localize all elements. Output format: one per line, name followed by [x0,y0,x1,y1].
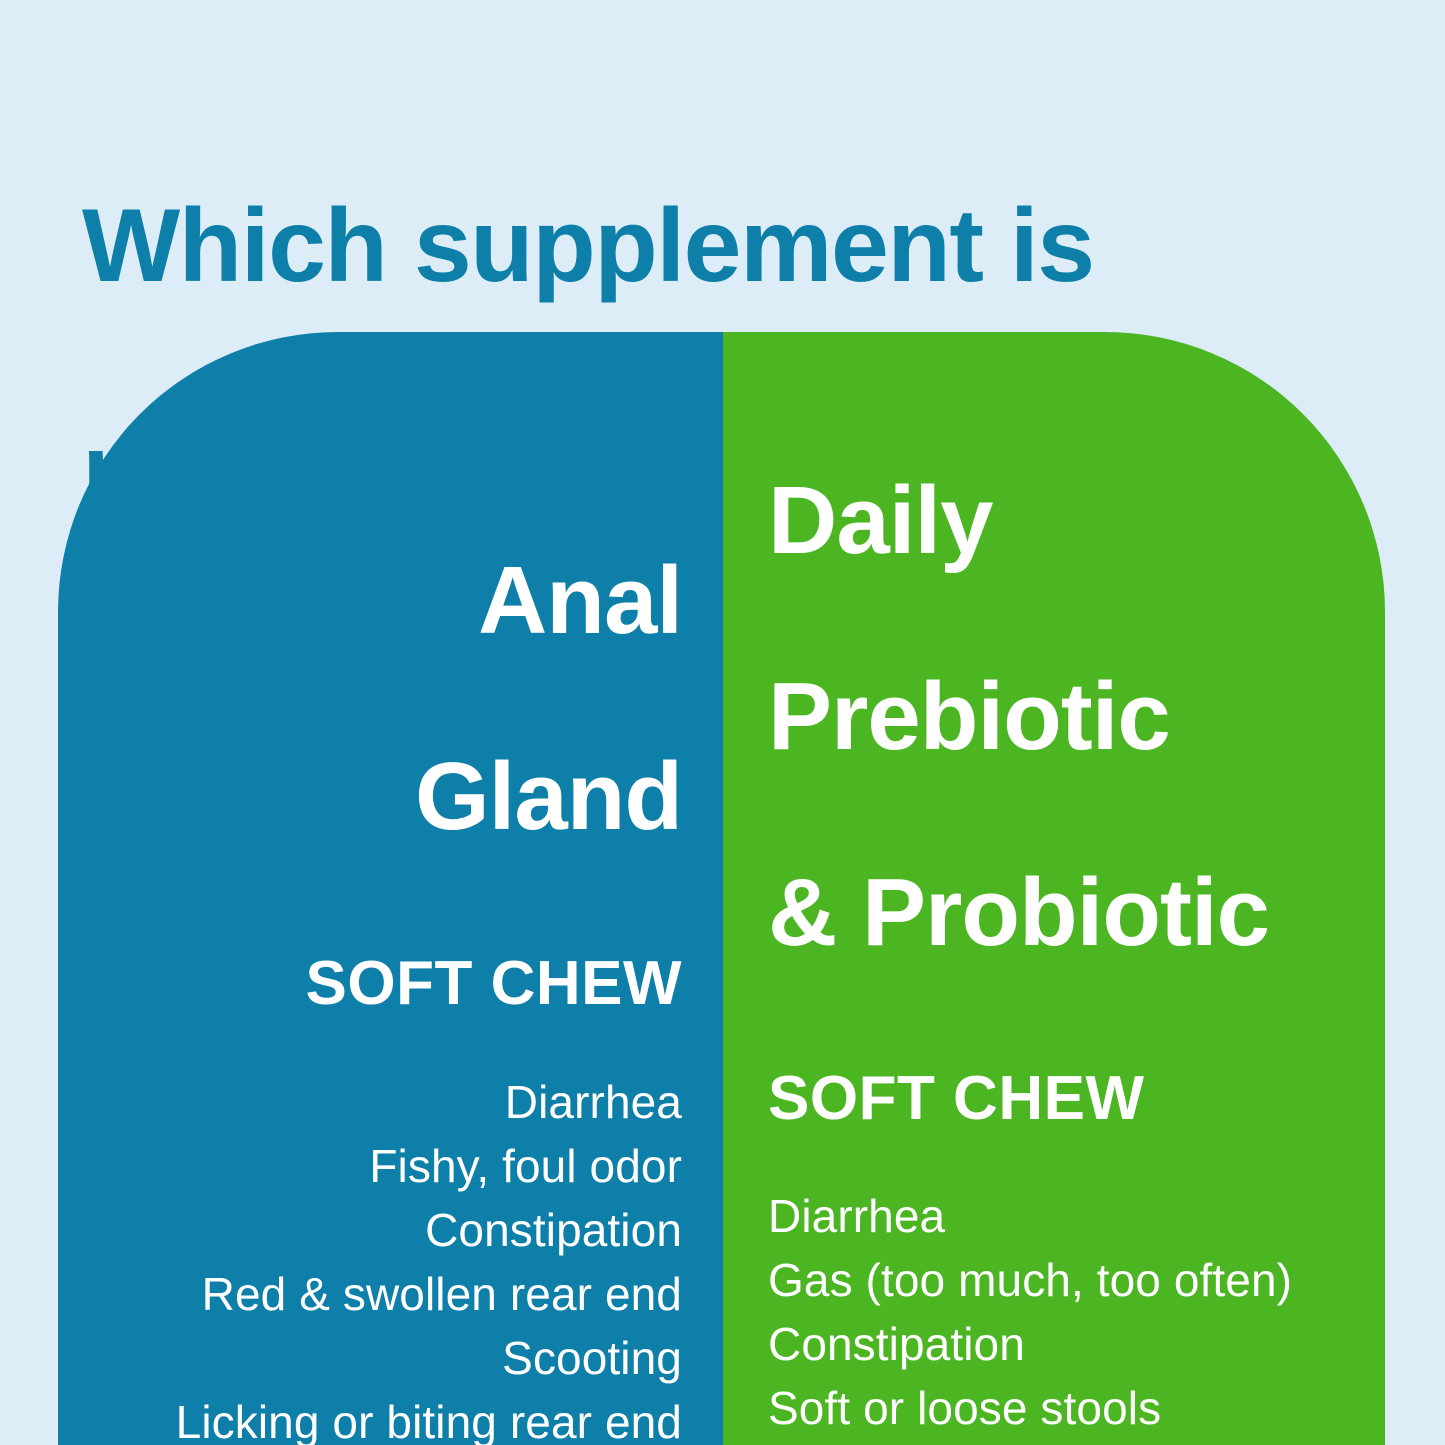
list-item: Diarrhea [58,1070,682,1134]
list-item: Constipation [58,1198,682,1262]
panel-daily-prebiotic-probiotic-subtitle: SOFT CHEW [768,1065,1385,1133]
panel-daily-title-line-1: Daily [768,472,1385,570]
panel-anal-gland-content: Anal Gland SOFT CHEW DiarrheaFishy, foul… [58,332,723,1445]
symptom-list-anal-gland: DiarrheaFishy, foul odorConstipationRed … [58,1070,682,1445]
panel-anal-gland-title-line-1: Anal [58,552,682,650]
list-item: Diarrhea [768,1184,1385,1248]
comparison-panels: Anal Gland SOFT CHEW DiarrheaFishy, foul… [0,332,1445,1445]
list-item: Constipation [768,1312,1385,1376]
panel-daily-prebiotic-probiotic: Daily Prebiotic & Probiotic SOFT CHEW Di… [723,332,1385,1445]
list-item: Scooting [58,1326,682,1390]
list-item: Gurgling tummy [768,1440,1385,1445]
panel-anal-gland-subtitle: SOFT CHEW [58,950,682,1018]
panel-daily-title-line-3: & Probiotic [768,864,1385,962]
panel-anal-gland: Anal Gland SOFT CHEW DiarrheaFishy, foul… [58,332,723,1445]
list-item: Fishy, foul odor [58,1134,682,1198]
headline-line-1: Which supplement is [82,190,1282,302]
symptom-list-daily-prebiotic-probiotic: DiarrheaGas (too much, too often)Constip… [768,1184,1385,1445]
infographic-poster: Which supplement is right for your dog? … [0,0,1445,1445]
list-item: Soft or loose stools [768,1376,1385,1440]
list-item: Gas (too much, too often) [768,1248,1385,1312]
panel-anal-gland-title-line-2: Gland [58,748,682,846]
panel-daily-prebiotic-probiotic-content: Daily Prebiotic & Probiotic SOFT CHEW Di… [723,332,1385,1445]
panel-daily-prebiotic-probiotic-title: Daily Prebiotic & Probiotic [768,332,1385,1059]
panel-anal-gland-title: Anal Gland [58,332,682,944]
list-item: Red & swollen rear end [58,1262,682,1326]
list-item: Licking or biting rear end [58,1390,682,1445]
panel-daily-title-line-2: Prebiotic [768,668,1385,766]
